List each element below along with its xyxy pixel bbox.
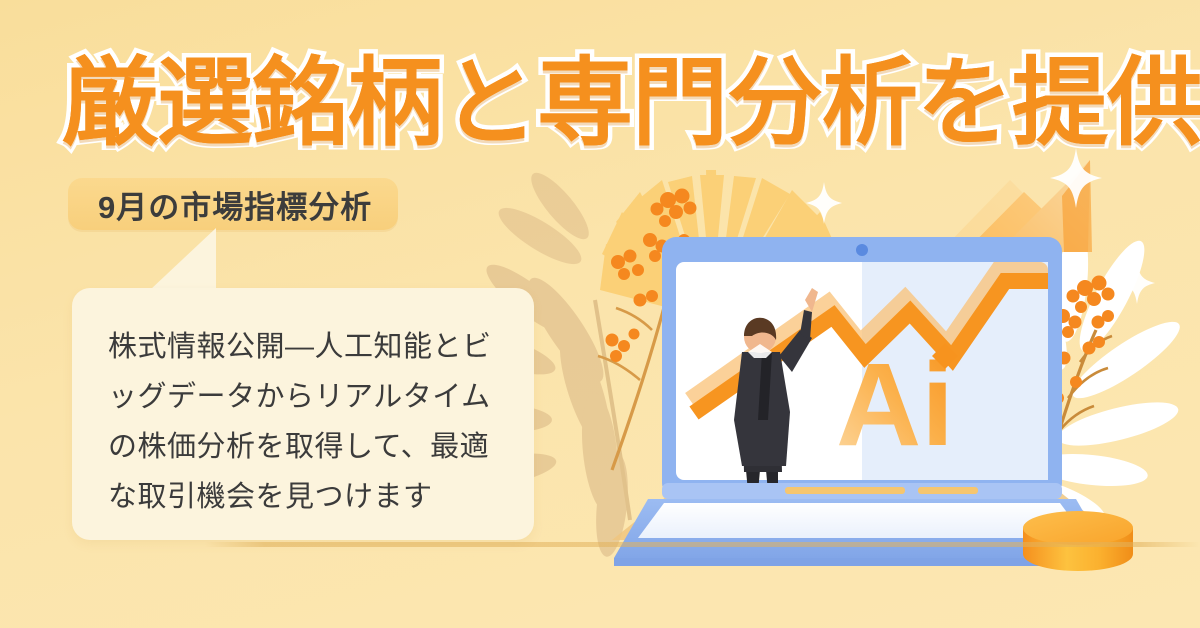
svg-text:Ai: Ai (836, 339, 954, 471)
sparkle-icon-right (1119, 262, 1155, 304)
sparkle-icon-top-left (806, 182, 842, 224)
ai-logo: Ai (836, 339, 958, 471)
bubble-line: ッグデータからリアルタイム (108, 372, 508, 422)
page-title: 厳選銘柄と専門分析を提供 (62, 48, 1152, 160)
bubble-line: な取引機会を見つけます (108, 472, 508, 522)
speech-bubble-tail (150, 228, 216, 290)
palm-frond (600, 170, 844, 320)
left-edge-leaves (492, 165, 597, 273)
businessman-pointing (734, 288, 818, 498)
status-badge: 9月の市場指標分析 (68, 178, 398, 230)
bubble-line: の株価分析を取得して、最適 (108, 422, 508, 472)
desk-shadow (612, 492, 1120, 540)
gold-coin (1023, 511, 1133, 571)
mimosa-berries-left (598, 189, 697, 471)
status-badge-label: 9月の市場指標分析 (98, 182, 372, 227)
speech-bubble-text: 株式情報公開—人工知能とビ ッグデータからリアルタイム の株価分析を取得して、最… (108, 322, 508, 522)
growth-arrow-up (660, 160, 1092, 556)
speech-bubble: 株式情報公開—人工知能とビ ッグデータからリアルタイム の株価分析を取得して、最… (72, 288, 534, 540)
desk-edge-line (205, 542, 1200, 547)
laptop-illustration: Ai (614, 237, 1110, 566)
screen-chart-shadow (690, 268, 1048, 400)
banner-canvas: Ai (0, 0, 1200, 628)
sparkle-icon-group (806, 148, 1155, 304)
bubble-line: 株式情報公開—人工知能とビ (108, 322, 508, 372)
mimosa-berries-right (1041, 276, 1115, 469)
white-leaves (1010, 225, 1188, 531)
screen-chart-line (694, 281, 1052, 413)
